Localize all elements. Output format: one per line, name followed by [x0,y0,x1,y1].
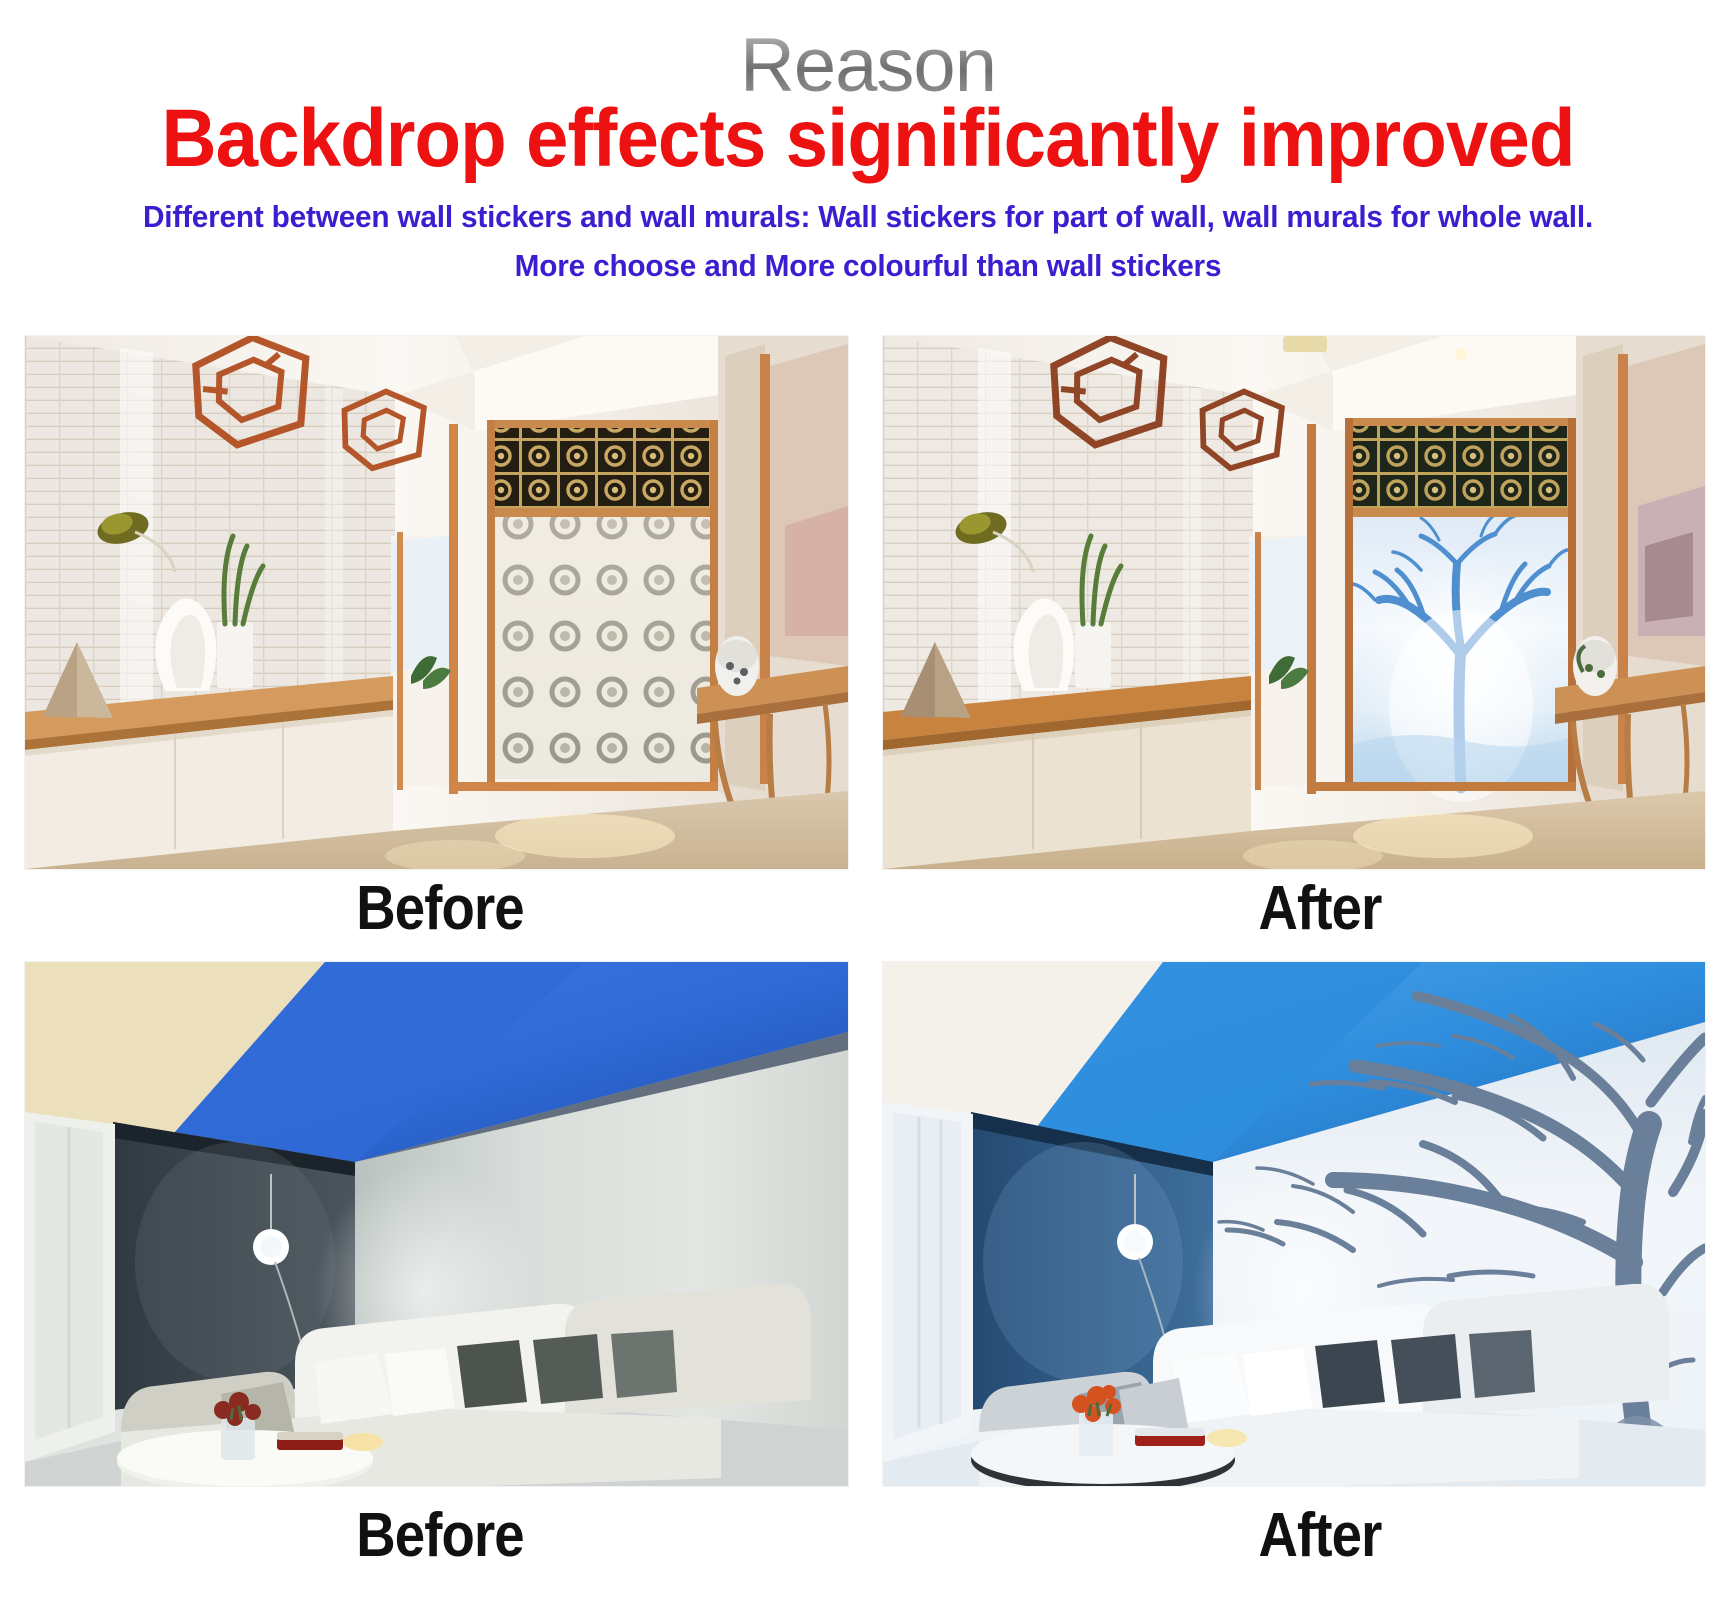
photo-livingroom-before [25,962,848,1486]
caption-livingroom-before: Before [194,1505,687,1567]
page-title: Backdrop effects significantly improved [61,96,1675,182]
photo-hallway-after [883,336,1705,869]
header-block: Reason Backdrop effects significantly im… [0,0,1736,300]
caption-hallway-after: After [1074,878,1567,940]
photo-livingroom-after [883,962,1705,1486]
subtitle-line-1: Different between wall stickers and wall… [35,200,1702,234]
caption-hallway-before: Before [194,878,687,940]
photo-hallway-before [25,336,848,869]
subtitle-line-2: More choose and More colourful than wall… [35,249,1702,283]
caption-livingroom-after: After [1074,1505,1567,1567]
